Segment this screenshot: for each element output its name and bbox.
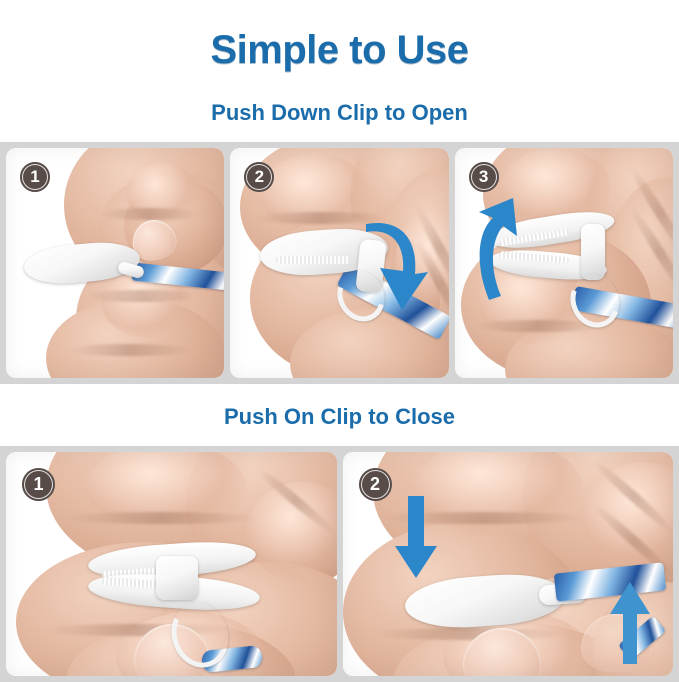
step-badge-open-3: 3 — [469, 162, 499, 192]
step-photo-close-1 — [6, 452, 337, 676]
step-card-open-2: 2 — [230, 148, 448, 378]
step-photo-close-2 — [343, 452, 674, 676]
steps-row-close: 1 — [0, 446, 679, 682]
step-badge-close-1: 1 — [22, 468, 55, 501]
page-title: Simple to Use — [0, 0, 679, 70]
step-badge-open-1: 1 — [20, 162, 50, 192]
step-badge-close-2: 2 — [359, 468, 392, 501]
step-card-open-1: 1 — [6, 148, 224, 378]
section-title-close: Push On Clip to Close — [0, 384, 679, 446]
step-card-open-3: 3 — [455, 148, 673, 378]
step-card-close-1: 1 — [6, 452, 337, 676]
section-title-open: Push Down Clip to Open — [0, 70, 679, 142]
steps-row-open: 1 — [0, 142, 679, 384]
product-instruction-graphic: Simple to Use Push Down Clip to Open — [0, 0, 679, 679]
step-card-close-2: 2 — [343, 452, 674, 676]
